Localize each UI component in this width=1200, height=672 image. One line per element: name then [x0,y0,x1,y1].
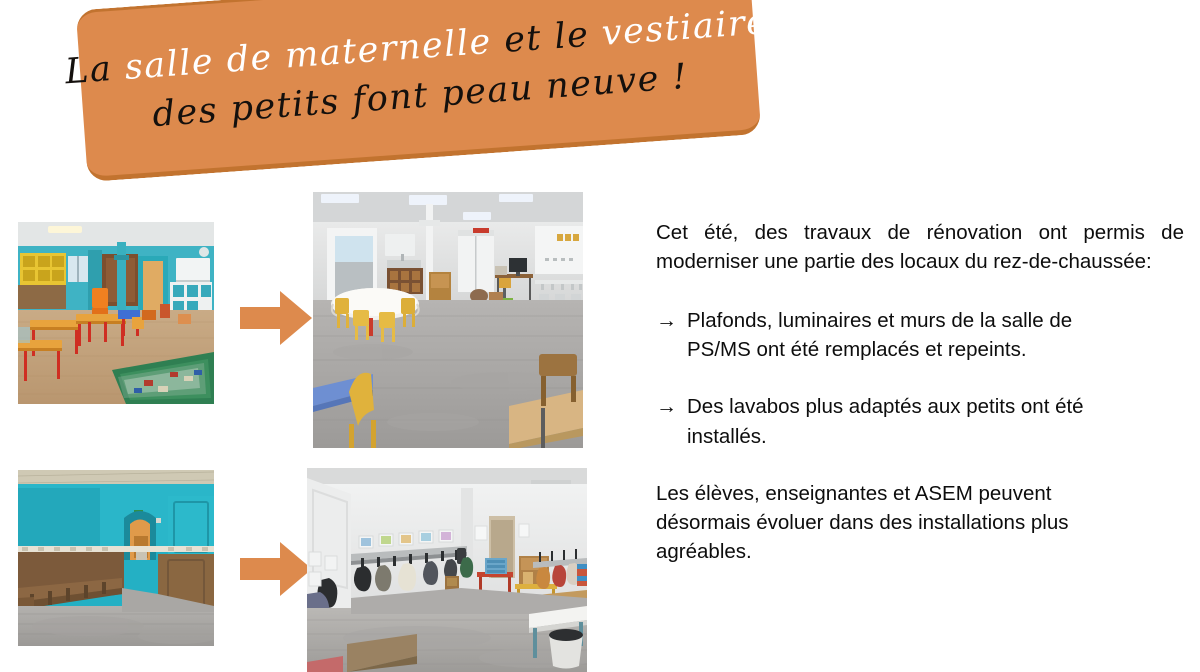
arrow-right-glyph-icon: → [656,306,677,364]
title-segment-la: La [64,48,126,92]
bullet-item-2: → Des lavabos plus adaptés aux petits on… [656,392,1184,450]
photo-before-cloakroom [18,470,214,646]
photo-before-classroom [18,222,214,404]
outro-line-3: agréables. [656,537,1184,566]
photo-after-cloakroom [307,468,587,672]
photo-after-classroom [313,192,583,448]
arrow-right-block-icon [240,289,312,347]
bullet-item-1-text: Plafonds, luminaires et murs de la salle… [687,306,1184,364]
arrow-right-icon-cloakroom [240,540,312,598]
arrow-right-icon-classroom [240,289,312,347]
bullet-1-line-2: PS/MS ont été remplacés et repeints. [687,335,1184,364]
bullet-item-2-text: Des lavabos plus adaptés aux petits ont … [687,392,1184,450]
title-banner: La salle de maternelle et le vestiaire d… [76,0,762,182]
title-segment-vestiaire: vestiaire [600,2,769,54]
body-text-column: Cet été, des travaux de rénovation ont p… [656,218,1184,566]
bullet-item-1: → Plafonds, luminaires et murs de la sal… [656,306,1184,364]
intro-paragraph: Cet été, des travaux de rénovation ont p… [656,218,1184,276]
outro-line-1: Les élèves, enseignantes et ASEM peuvent [656,479,1184,508]
arrow-right-glyph-icon: → [656,392,677,450]
outro-line-2: désormais évoluer dans des installations… [656,508,1184,537]
title-banner-text: La salle de maternelle et le vestiaire d… [76,0,762,182]
arrow-right-block-icon [240,540,312,598]
photo-after-cloakroom-image [307,468,587,672]
outro-paragraph: Les élèves, enseignantes et ASEM peuvent… [656,479,1184,566]
bullet-2-line-2: installés. [687,422,1184,451]
photo-before-classroom-image [18,222,214,404]
bullet-2-line-1: Des lavabos plus adaptés aux petits ont … [687,392,1184,421]
photo-before-cloakroom-image [18,470,214,646]
title-segment-et-le: et le [503,14,604,61]
bullet-1-line-1: Plafonds, luminaires et murs de la salle… [687,306,1184,335]
photo-after-classroom-image [313,192,583,448]
slide-canvas: La salle de maternelle et le vestiaire d… [0,0,1200,672]
